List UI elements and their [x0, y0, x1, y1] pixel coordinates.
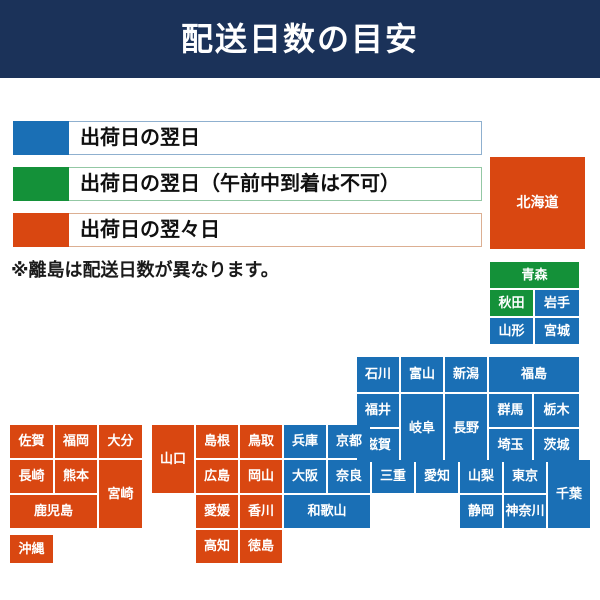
prefecture-tile: 大分 [99, 425, 142, 458]
legend-row-green: 出荷日の翌日（午前中到着は不可） [13, 167, 482, 201]
prefecture-tile: 兵庫 [284, 425, 326, 458]
prefecture-tile: 静岡 [460, 495, 502, 528]
prefecture-tile: 愛媛 [196, 495, 238, 528]
prefecture-tile: 富山 [401, 357, 443, 392]
prefecture-tile: 栃木 [534, 394, 579, 427]
prefecture-tile: 島根 [196, 425, 238, 458]
prefecture-tile: 神奈川 [504, 495, 546, 528]
prefecture-tile: 長野 [445, 394, 487, 462]
prefecture-tile: 宮城 [535, 318, 579, 344]
prefecture-tile: 福岡 [55, 425, 97, 458]
legend-label-green: 出荷日の翌日（午前中到着は不可） [80, 168, 400, 202]
prefecture-tile: 鹿児島 [10, 495, 97, 528]
prefecture-tile: 岡山 [240, 460, 282, 493]
prefecture-tile: 京都 [328, 425, 370, 458]
prefecture-tile: 福島 [489, 357, 579, 392]
prefecture-tile: 熊本 [55, 460, 97, 493]
delivery-days-infographic: 配送日数の目安 出荷日の翌日出荷日の翌日（午前中到着は不可）出荷日の翌々日 ※離… [0, 0, 600, 600]
prefecture-tile: 茨城 [534, 429, 579, 462]
prefecture-tile: 宮崎 [99, 460, 142, 528]
prefecture-tile: 三重 [372, 460, 414, 493]
prefecture-tile: 青森 [490, 262, 579, 288]
legend-swatch-orange [13, 213, 69, 247]
page-title: 配送日数の目安 [0, 0, 600, 78]
remote-island-note: ※離島は配送日数が異なります。 [11, 256, 279, 282]
legend-swatch-blue [13, 121, 69, 155]
legend-swatch-green [13, 167, 69, 201]
page-header: 配送日数の目安 [0, 0, 600, 78]
prefecture-tile: 和歌山 [284, 495, 370, 528]
prefecture-tile: 千葉 [548, 460, 590, 528]
prefecture-tile: 山梨 [460, 460, 502, 493]
prefecture-tile: 石川 [357, 357, 399, 392]
prefecture-tile: 佐賀 [10, 425, 53, 458]
prefecture-tile: 沖縄 [10, 535, 53, 563]
prefecture-tile: 岐阜 [401, 394, 443, 462]
prefecture-tile: 長崎 [10, 460, 53, 493]
prefecture-tile: 広島 [196, 460, 238, 493]
prefecture-tile: 山形 [490, 318, 533, 344]
legend-label-blue: 出荷日の翌日 [80, 122, 200, 156]
prefecture-tile: 埼玉 [489, 429, 532, 462]
prefecture-tile: 奈良 [328, 460, 370, 493]
prefecture-tile: 山口 [152, 425, 194, 493]
prefecture-tile: 東京 [504, 460, 546, 493]
prefecture-tile: 鳥取 [240, 425, 282, 458]
prefecture-tile: 岩手 [535, 290, 579, 316]
prefecture-tile: 香川 [240, 495, 282, 528]
legend-row-orange: 出荷日の翌々日 [13, 213, 482, 247]
prefecture-tile: 北海道 [490, 157, 585, 249]
prefecture-tile: 高知 [196, 530, 238, 563]
prefecture-tile: 大阪 [284, 460, 326, 493]
prefecture-tile: 秋田 [490, 290, 533, 316]
legend-label-orange: 出荷日の翌々日 [80, 214, 220, 248]
legend-row-blue: 出荷日の翌日 [13, 121, 482, 155]
prefecture-tile: 徳島 [240, 530, 282, 563]
prefecture-tile: 愛知 [416, 460, 458, 493]
prefecture-tile: 群馬 [489, 394, 532, 427]
prefecture-tile: 福井 [357, 394, 399, 427]
prefecture-tile: 新潟 [445, 357, 487, 392]
